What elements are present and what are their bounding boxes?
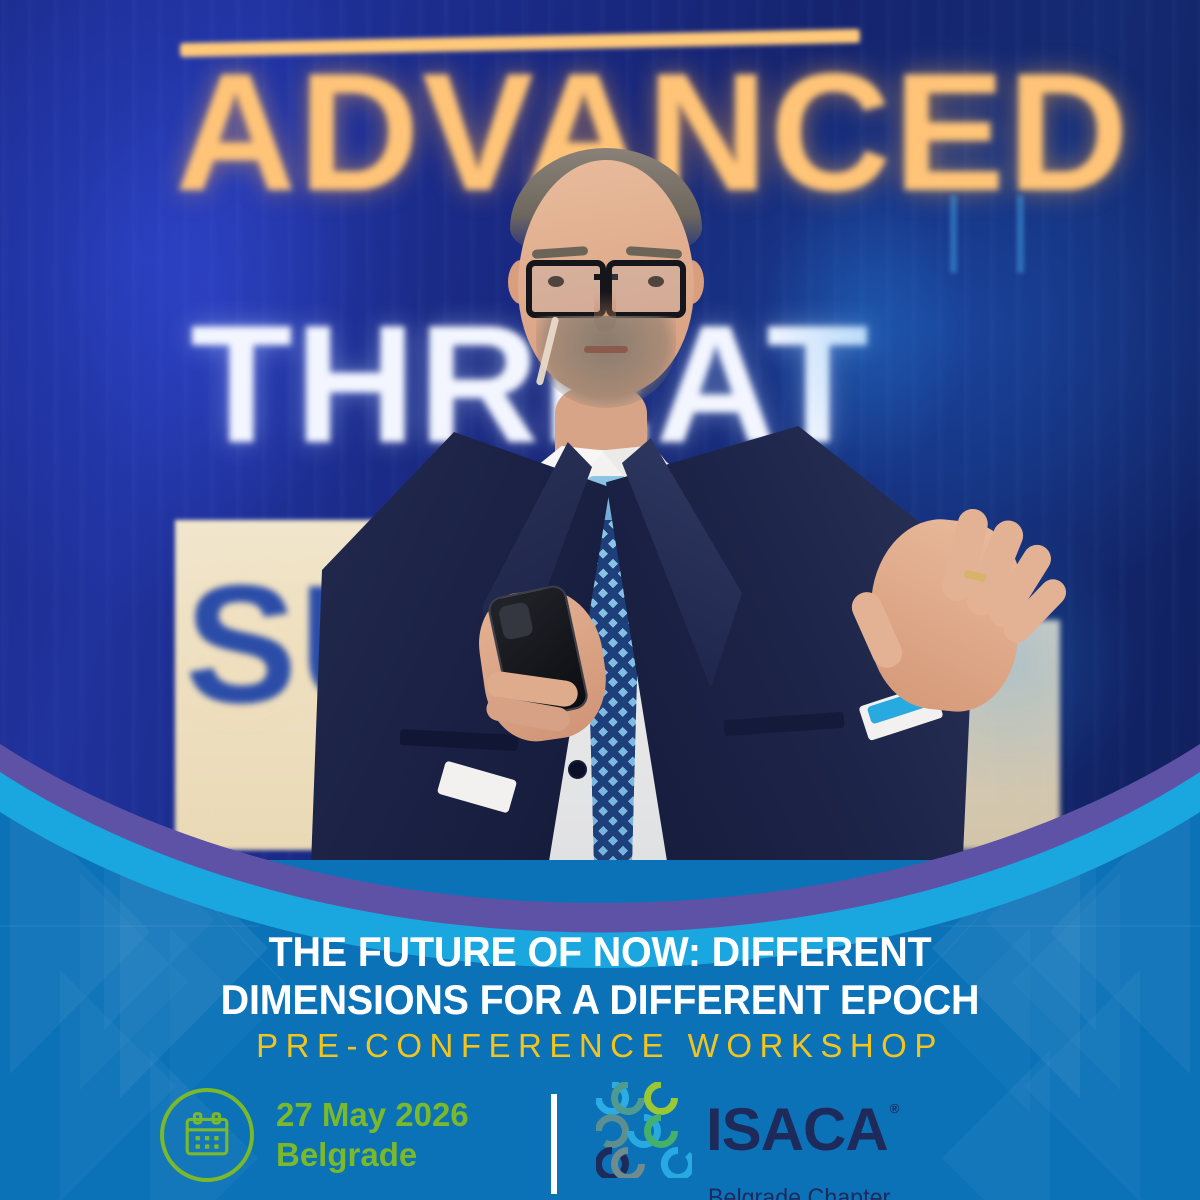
event-city: Belgrade	[276, 1135, 469, 1175]
event-date-block: 27 May 2026 Belgrade	[160, 1088, 469, 1182]
speaker-beard	[536, 316, 676, 408]
poster-headline: THE FUTURE OF NOW: DIFFERENT DIMENSIONS …	[36, 928, 1164, 1024]
speaker-mouth	[584, 346, 628, 353]
eyeglass-lens-right	[606, 260, 686, 318]
poster-subtitle: PRE-CONFERENCE WORKSHOP	[0, 1029, 1200, 1062]
registered-trademark-icon: ®	[890, 1101, 899, 1116]
isaca-wordmark: ISACA®	[706, 1100, 896, 1160]
poster-footer: 27 May 2026 Belgrade	[0, 1080, 1200, 1200]
headline-line-1: THE FUTURE OF NOW: DIFFERENT	[36, 928, 1164, 976]
headline-line-2: DIMENSIONS FOR A DIFFERENT EPOCH	[36, 976, 1164, 1024]
isaca-chapter-name: Belgrade Chapter	[708, 1184, 890, 1200]
phone-camera-module	[498, 601, 534, 640]
isaca-wordmark-text: ISACA	[706, 1096, 888, 1163]
isaca-logo: ISACA® Belgrade Chapter	[596, 1082, 904, 1200]
event-poster: ADVANCED THREAT SUMMIT	[0, 0, 1200, 1200]
footer-divider	[551, 1094, 557, 1194]
event-date: 27 May 2026	[276, 1095, 469, 1135]
isaca-ring-grid-logo	[596, 1082, 692, 1178]
event-date-text: 27 May 2026 Belgrade	[276, 1095, 469, 1176]
calendar-icon	[160, 1088, 254, 1182]
